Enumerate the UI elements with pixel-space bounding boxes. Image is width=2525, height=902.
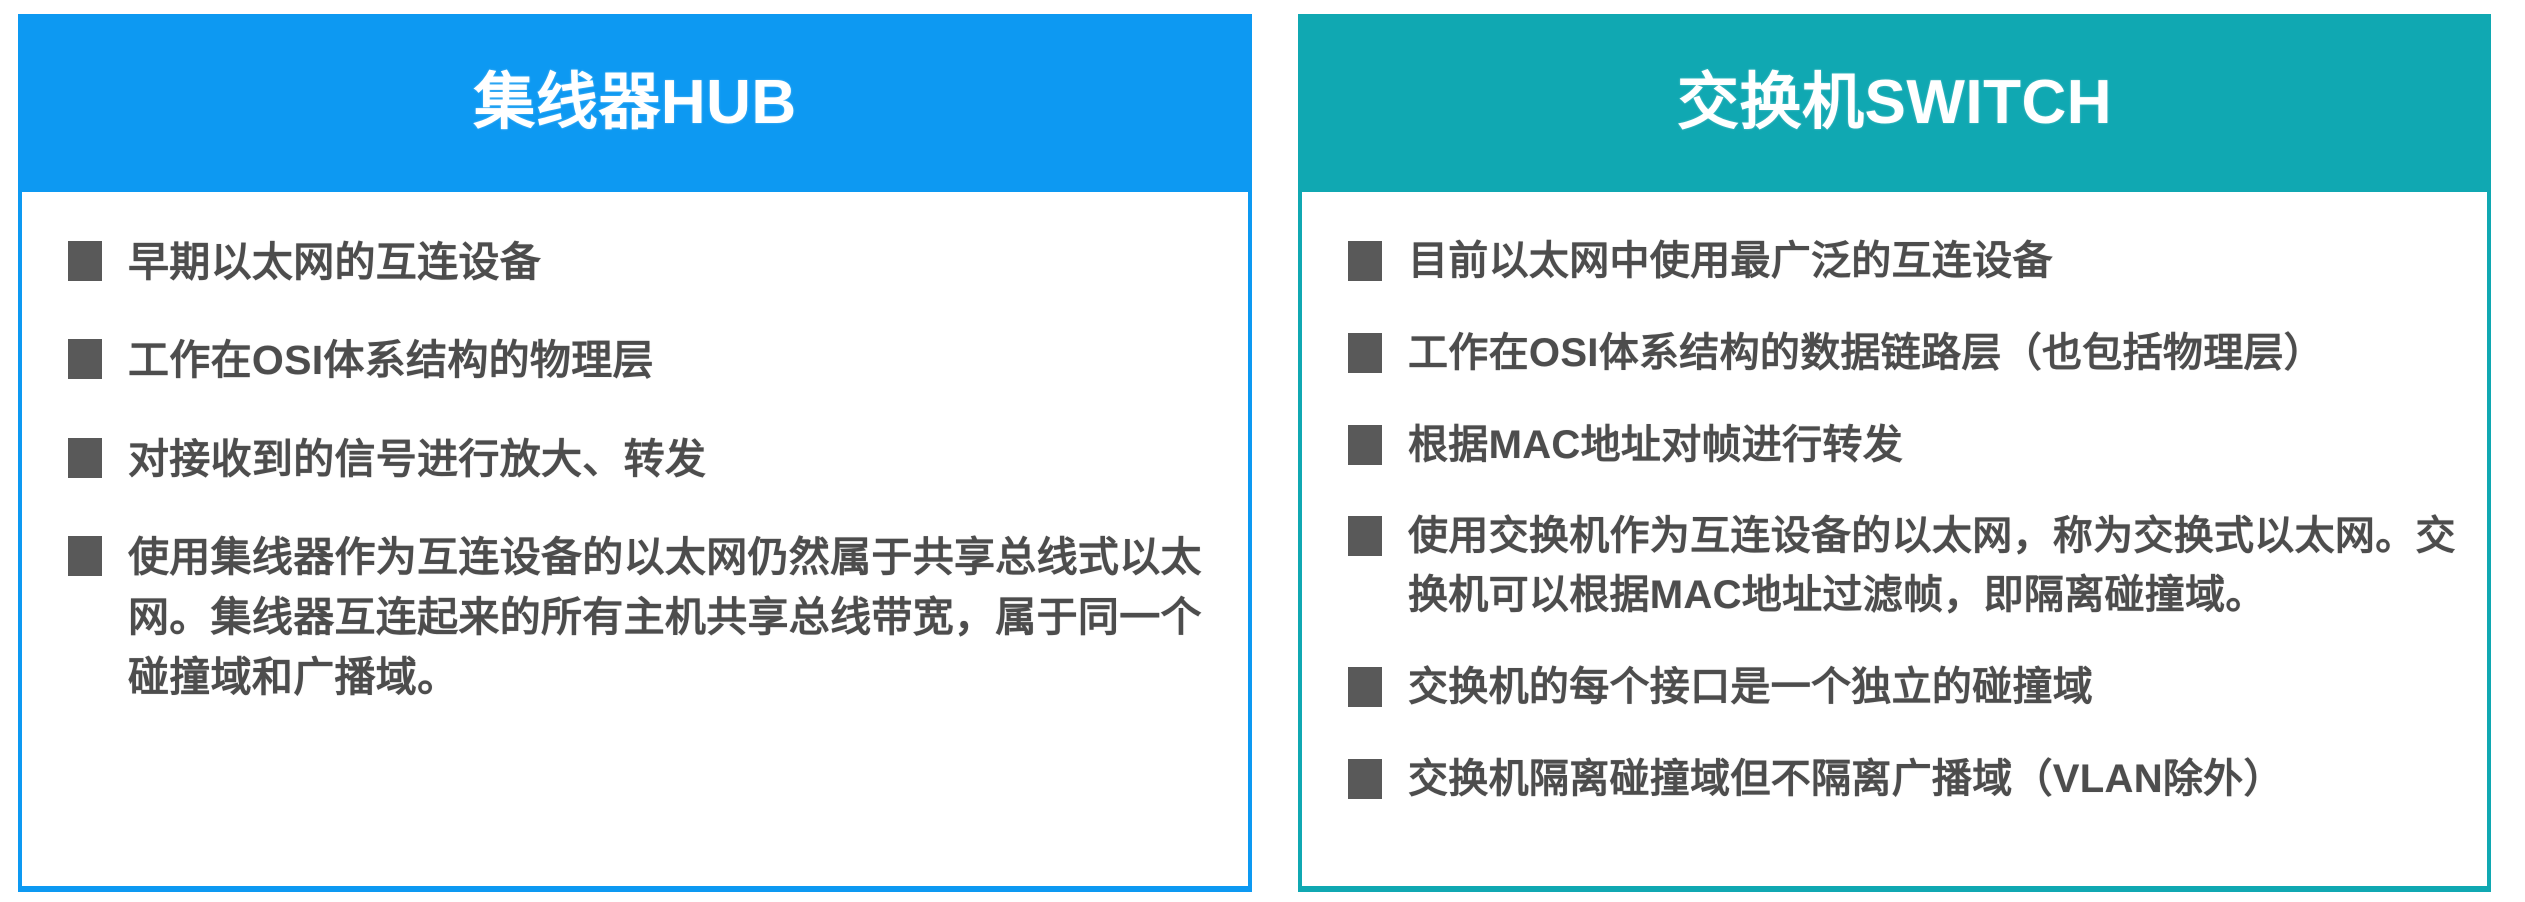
panel-switch-bullet-list: 目前以太网中使用最广泛的互连设备 工作在OSI体系结构的数据链路层（也包括物理层…: [1348, 232, 2463, 842]
list-item: 使用交换机作为互连设备的以太网，称为交换式以太网。交换机可以根据MAC地址过滤帧…: [1348, 507, 2463, 625]
list-item-label: 工作在OSI体系结构的物理层: [128, 330, 1224, 390]
list-item-label: 使用集线器作为互连设备的以太网仍然属于共享总线式以太网。集线器互连起来的所有主机…: [128, 527, 1224, 708]
list-item-label: 工作在OSI体系结构的数据链路层（也包括物理层）: [1408, 324, 2463, 383]
panel-switch-body: 目前以太网中使用最广泛的互连设备 工作在OSI体系结构的数据链路层（也包括物理层…: [1298, 192, 2491, 892]
list-item-label: 交换机的每个接口是一个独立的碰撞域: [1408, 658, 2463, 717]
list-item: 根据MAC地址对帧进行转发: [1348, 416, 2463, 475]
square-bullet-icon: [1348, 667, 1382, 707]
list-item-label: 早期以太网的互连设备: [128, 232, 1224, 292]
square-bullet-icon: [68, 241, 102, 281]
panel-hub-body: 早期以太网的互连设备 工作在OSI体系结构的物理层 对接收到的信号进行放大、转发…: [18, 192, 1252, 892]
list-item: 交换机隔离碰撞域但不隔离广播域（VLAN除外）: [1348, 750, 2463, 809]
list-item-label: 根据MAC地址对帧进行转发: [1408, 416, 2463, 475]
square-bullet-icon: [1348, 333, 1382, 373]
list-item: 工作在OSI体系结构的数据链路层（也包括物理层）: [1348, 324, 2463, 383]
square-bullet-icon: [1348, 516, 1382, 556]
square-bullet-icon: [1348, 425, 1382, 465]
list-item-label: 交换机隔离碰撞域但不隔离广播域（VLAN除外）: [1408, 750, 2463, 809]
list-item-label: 目前以太网中使用最广泛的互连设备: [1408, 232, 2463, 291]
panel-hub-header: 集线器HUB: [18, 14, 1252, 192]
list-item: 工作在OSI体系结构的物理层: [68, 330, 1224, 390]
list-item: 早期以太网的互连设备: [68, 232, 1224, 292]
panel-switch: 交换机SWITCH 目前以太网中使用最广泛的互连设备 工作在OSI体系结构的数据…: [1298, 14, 2491, 892]
square-bullet-icon: [1348, 241, 1382, 281]
square-bullet-icon: [68, 536, 102, 576]
list-item-label: 对接收到的信号进行放大、转发: [128, 429, 1224, 489]
panel-hub-title: 集线器HUB: [473, 72, 796, 134]
panel-switch-title: 交换机SWITCH: [1677, 72, 2112, 134]
comparison-slide: 集线器HUB 早期以太网的互连设备 工作在OSI体系结构的物理层 对接收到的信号…: [0, 0, 2525, 902]
square-bullet-icon: [1348, 759, 1382, 799]
list-item: 对接收到的信号进行放大、转发: [68, 429, 1224, 489]
list-item-label: 使用交换机作为互连设备的以太网，称为交换式以太网。交换机可以根据MAC地址过滤帧…: [1408, 507, 2463, 625]
list-item: 目前以太网中使用最广泛的互连设备: [1348, 232, 2463, 291]
panel-switch-header: 交换机SWITCH: [1298, 14, 2491, 192]
panel-hub: 集线器HUB 早期以太网的互连设备 工作在OSI体系结构的物理层 对接收到的信号…: [18, 14, 1252, 892]
list-item: 使用集线器作为互连设备的以太网仍然属于共享总线式以太网。集线器互连起来的所有主机…: [68, 527, 1224, 708]
square-bullet-icon: [68, 339, 102, 379]
list-item: 交换机的每个接口是一个独立的碰撞域: [1348, 658, 2463, 717]
square-bullet-icon: [68, 438, 102, 478]
panel-hub-bullet-list: 早期以太网的互连设备 工作在OSI体系结构的物理层 对接收到的信号进行放大、转发…: [68, 232, 1224, 708]
